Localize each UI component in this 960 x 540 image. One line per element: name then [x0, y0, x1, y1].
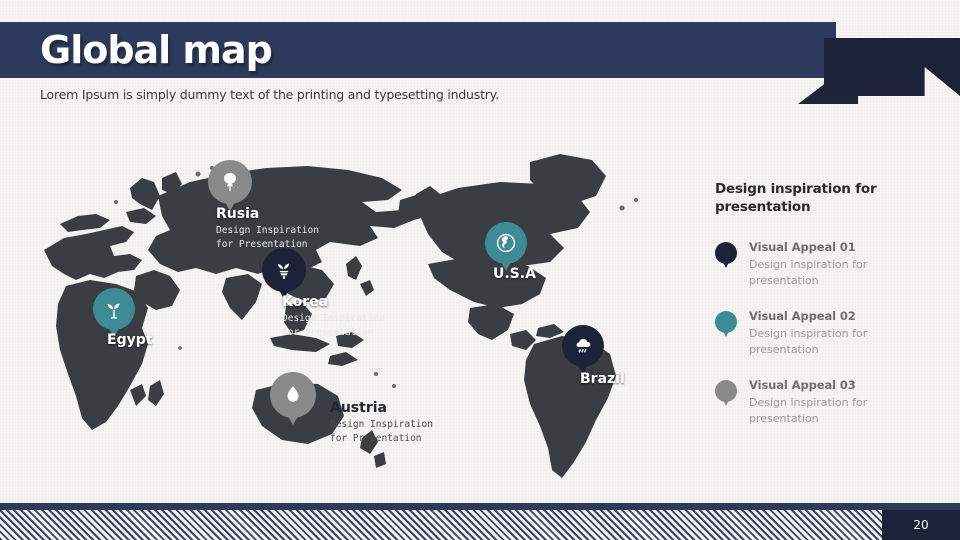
pin-egypt[interactable]: [93, 288, 135, 330]
pin-brazil[interactable]: [562, 325, 604, 367]
rain-cloud-icon: [572, 335, 594, 357]
page-number: 20: [913, 518, 928, 532]
seedling-icon: [273, 259, 295, 281]
legend-heading-02: Visual Appeal 02: [749, 309, 910, 323]
legend-text-03: Visual Appeal 03 Design inspiration for …: [749, 378, 910, 427]
pin-rusia[interactable]: [208, 160, 252, 204]
legend-bullet-02: [715, 311, 737, 333]
marker-sub-line: for Presentation: [216, 238, 319, 252]
plant-icon: [103, 298, 125, 320]
legend-heading-01: Visual Appeal 01: [749, 240, 910, 254]
legend-item-03[interactable]: Visual Appeal 03 Design inspiration for …: [715, 378, 910, 427]
legend-item-02[interactable]: Visual Appeal 02 Design inspiration for …: [715, 309, 910, 358]
marker-sub-korea: Design Inspiration for Presentation: [282, 312, 385, 340]
marker-sub-line: Design Inspiration: [330, 418, 433, 432]
legend-body-02: Design inspiration for presentation: [749, 326, 910, 358]
marker-label-rusia: Rusia: [216, 206, 259, 222]
slide-canvas: Global map Lorem Ipsum is simply dummy t…: [0, 0, 960, 540]
page-number-badge: 20: [882, 510, 960, 540]
legend-panel: Design inspiration for presentation Visu…: [715, 180, 910, 447]
marker-label-brazil: Brazil: [580, 371, 625, 387]
legend-title: Design inspiration for presentation: [715, 180, 910, 216]
marker-label-egypt: Egypt: [107, 332, 152, 348]
legend-body-03: Design inspiration for presentation: [749, 395, 910, 427]
footer-accent-line: [0, 503, 960, 510]
globe-icon: [495, 232, 517, 254]
page-title: Global map: [40, 26, 272, 74]
legend-text-01: Visual Appeal 01 Design inspiration for …: [749, 240, 910, 289]
marker-sub-rusia: Design Inspiration for Presentation: [216, 224, 319, 252]
pin-usa[interactable]: [485, 222, 527, 264]
marker-label-austria: Austria: [330, 400, 387, 416]
legend-body-01: Design inspiration for presentation: [749, 257, 910, 289]
marker-sub-line: Design Inspiration: [216, 224, 319, 238]
legend-text-02: Visual Appeal 02 Design inspiration for …: [749, 309, 910, 358]
legend-bullet-01: [715, 242, 737, 264]
marker-sub-line: for Presentation: [282, 326, 385, 340]
pin-austria[interactable]: [270, 372, 316, 418]
legend-heading-03: Visual Appeal 03: [749, 378, 910, 392]
water-drop-icon: [282, 384, 304, 406]
footer-hatch-pattern: [0, 510, 960, 540]
page-subtitle: Lorem Ipsum is simply dummy text of the …: [40, 87, 499, 102]
marker-label-usa: U.S.A: [493, 266, 536, 282]
tree-icon: [219, 171, 241, 193]
marker-sub-line: for Presentation: [330, 432, 433, 446]
legend-item-01[interactable]: Visual Appeal 01 Design inspiration for …: [715, 240, 910, 289]
marker-sub-austria: Design Inspiration for Presentation: [330, 418, 433, 446]
marker-label-korea: Korea: [282, 294, 328, 310]
marker-sub-line: Design Inspiration: [282, 312, 385, 326]
legend-bullet-03: [715, 380, 737, 402]
header-ribbon: [824, 38, 960, 96]
pin-korea[interactable]: [262, 248, 306, 292]
